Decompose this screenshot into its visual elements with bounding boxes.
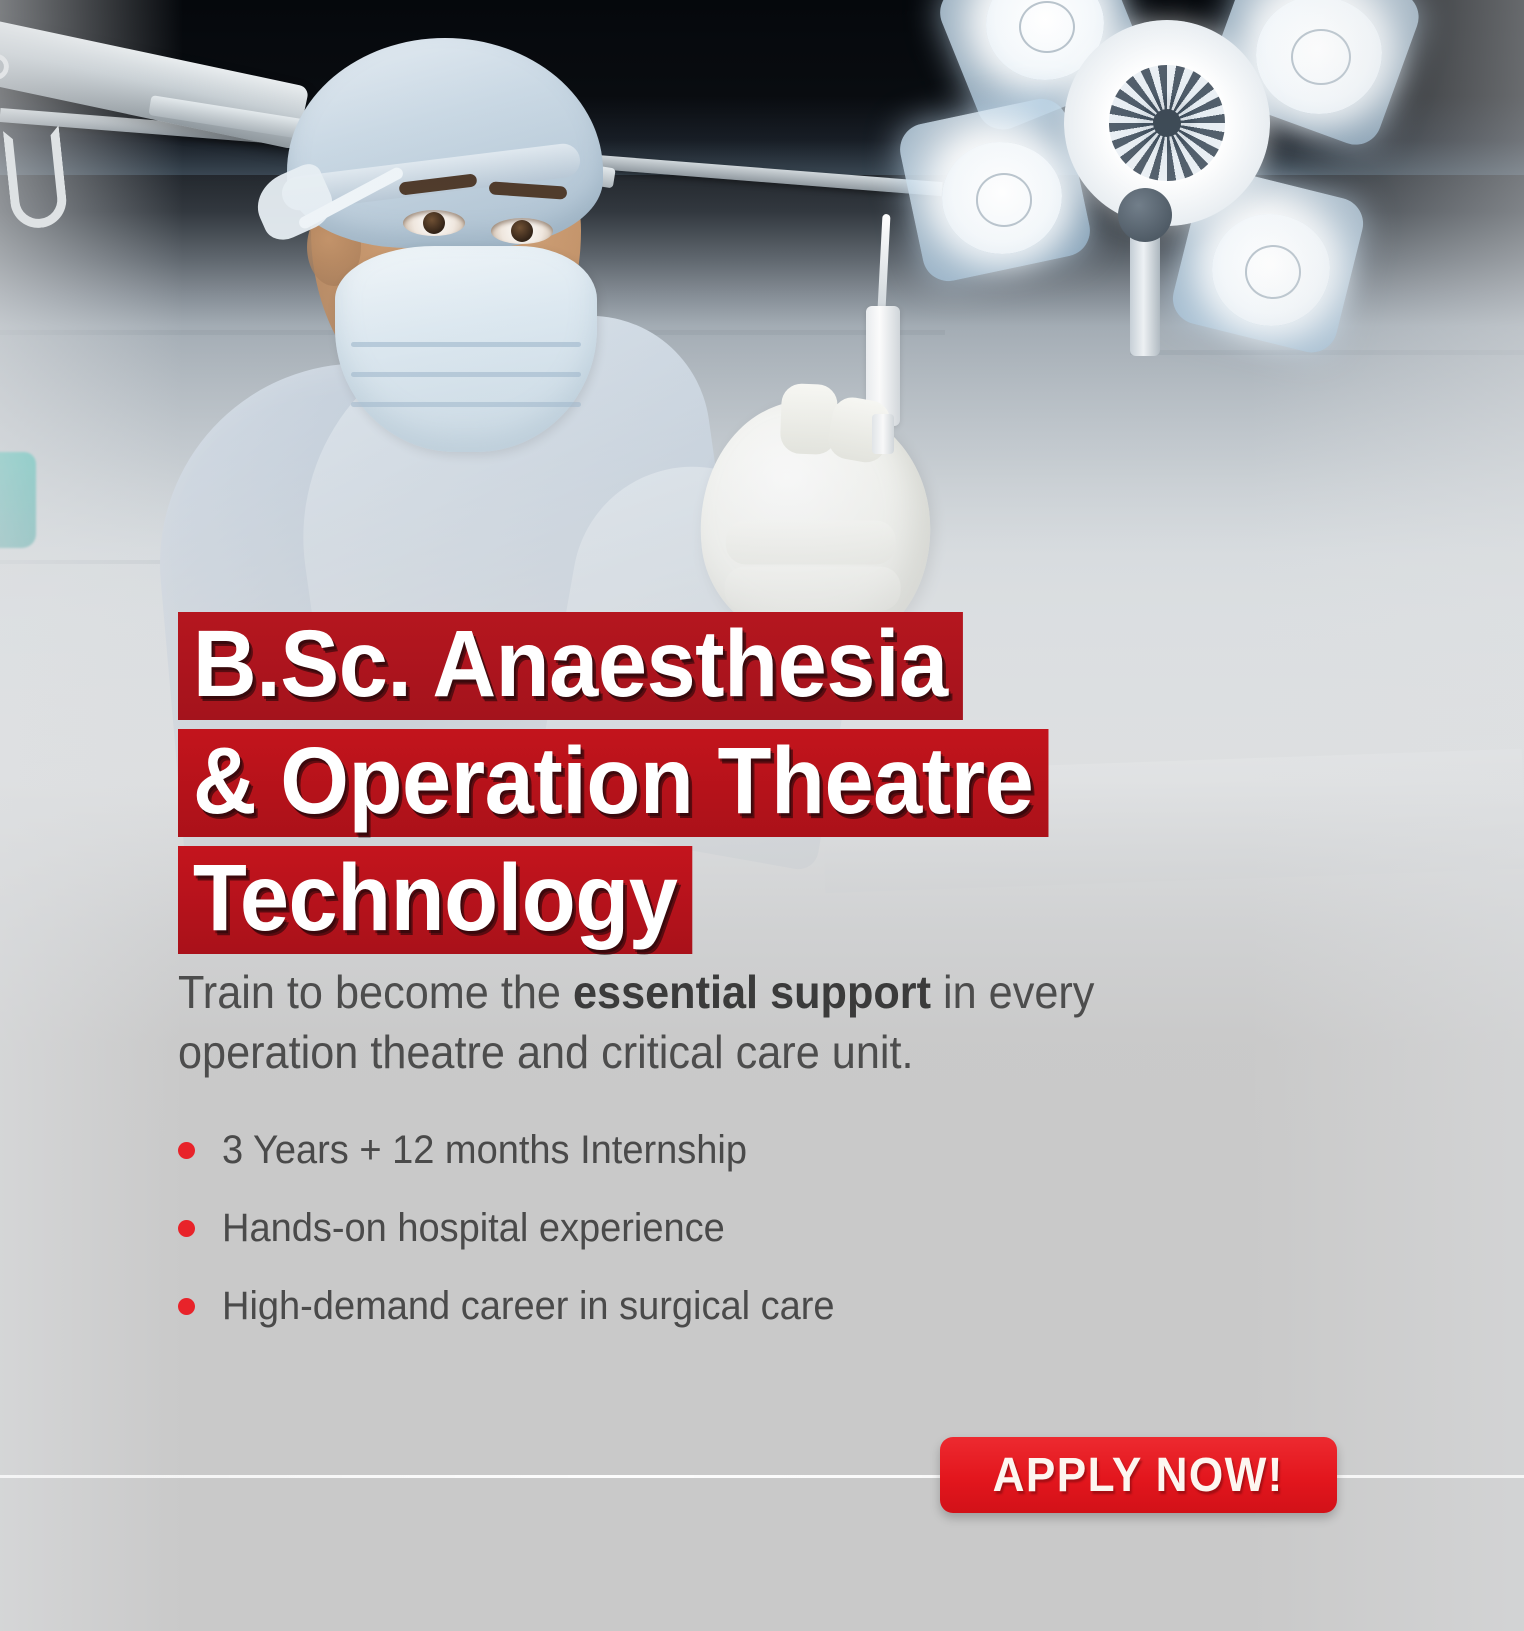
title-line-2: & Operation Theatre <box>178 729 1048 837</box>
banner-content: B.Sc. Anaesthesia & Operation Theatre Te… <box>0 0 1524 1631</box>
subtitle: Train to become the essential support in… <box>178 963 1221 1083</box>
bullet-dot-icon <box>178 1142 195 1159</box>
bullet-dot-icon <box>178 1220 195 1237</box>
list-item: Hands-on hospital experience <box>178 1206 867 1250</box>
bullet-dot-icon <box>178 1298 195 1315</box>
list-item: High-demand career in surgical care <box>178 1284 867 1328</box>
subtitle-before: Train to become the <box>178 966 573 1018</box>
title-line-1: B.Sc. Anaesthesia <box>178 612 963 720</box>
apply-now-label: APPLY NOW! <box>993 1448 1284 1503</box>
subtitle-emphasis: essential support <box>573 966 931 1018</box>
apply-now-button[interactable]: APPLY NOW! <box>940 1437 1337 1513</box>
list-item-label: 3 Years + 12 months Internship <box>222 1128 747 1172</box>
list-item-label: Hands-on hospital experience <box>222 1206 725 1250</box>
course-promotion-banner: B.Sc. Anaesthesia & Operation Theatre Te… <box>0 0 1524 1631</box>
title-line-3: Technology <box>178 846 692 954</box>
page-title: B.Sc. Anaesthesia & Operation Theatre Te… <box>178 612 1378 963</box>
list-item: 3 Years + 12 months Internship <box>178 1128 867 1172</box>
feature-list: 3 Years + 12 months Internship Hands-on … <box>178 1128 867 1362</box>
list-item-label: High-demand career in surgical care <box>222 1284 835 1328</box>
